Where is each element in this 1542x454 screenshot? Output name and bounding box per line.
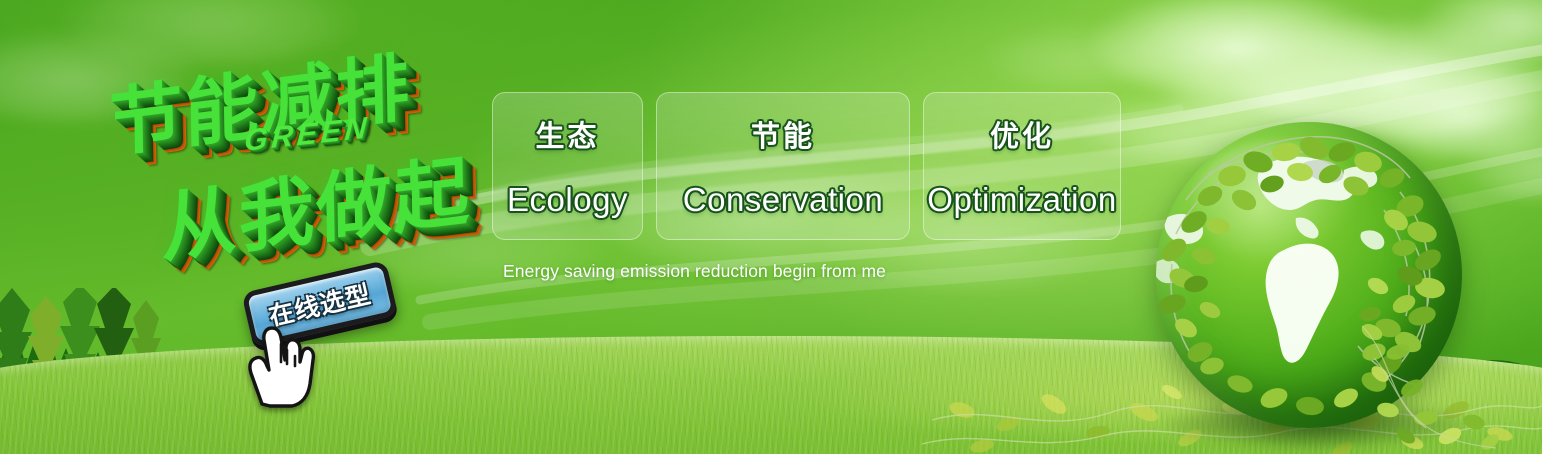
- feature-card-title-en: Conservation: [683, 181, 883, 219]
- banner-tagline: Energy saving emission reduction begin f…: [503, 261, 886, 282]
- falling-leaves-icon: [1354, 318, 1504, 454]
- feature-card-title-en: Optimization: [927, 181, 1116, 219]
- feature-card-ecology[interactable]: 生态 Ecology: [492, 92, 643, 240]
- leafy-earth-globe-icon: [1148, 118, 1474, 444]
- feature-card-title-cn: 生态: [535, 113, 599, 155]
- feature-card-optimization[interactable]: 优化 Optimization: [923, 92, 1121, 240]
- feature-card-title-cn: 优化: [990, 113, 1054, 155]
- feature-card-list: 生态 Ecology 节能 Conservation 优化 Optimizati…: [492, 92, 1121, 240]
- headline-graphic: 节能减排 GREEN 从我做起: [96, 36, 496, 272]
- green-energy-banner: 节能减排 GREEN 从我做起 在线选型 生态 Ecology 节能 Conse…: [0, 0, 1542, 454]
- feature-card-title-cn: 节能: [751, 113, 815, 155]
- feature-card-title-en: Ecology: [507, 181, 628, 219]
- pointing-hand-cursor-icon: [240, 318, 316, 408]
- feature-card-conservation[interactable]: 节能 Conservation: [656, 92, 910, 240]
